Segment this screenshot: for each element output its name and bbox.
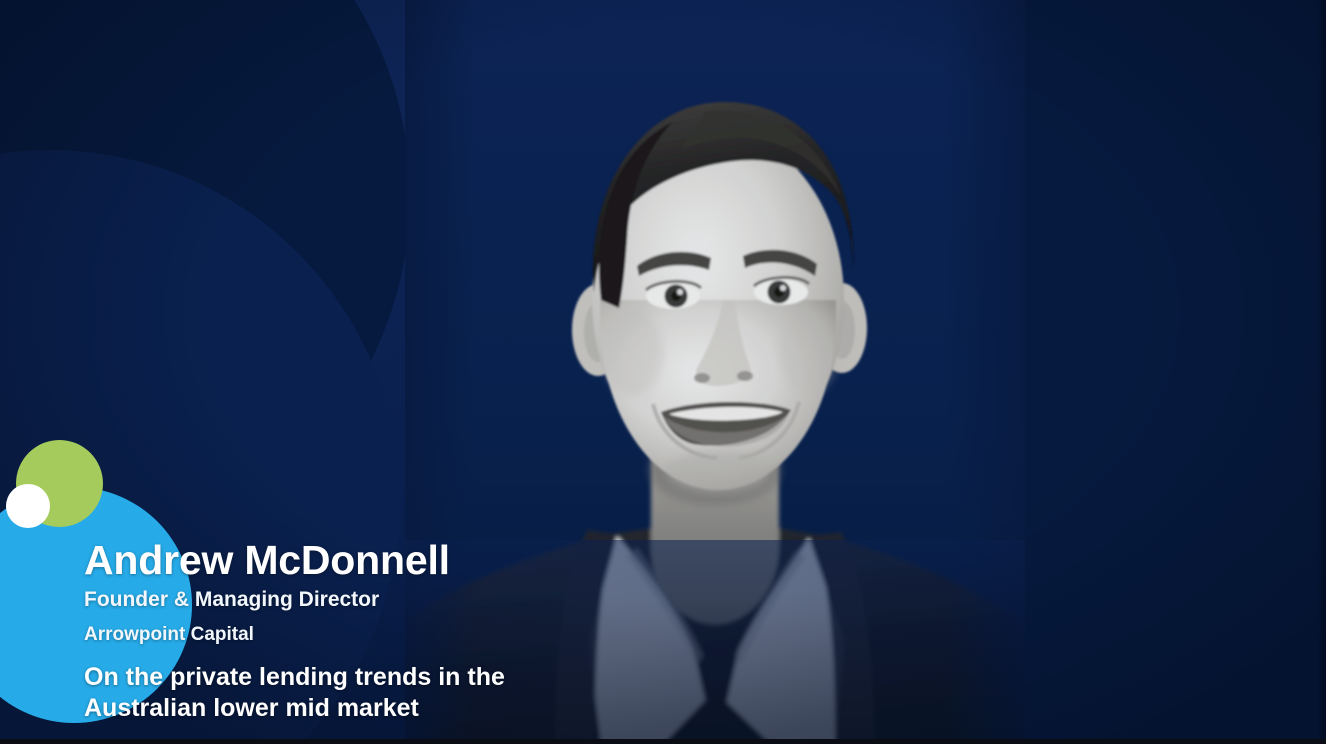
decorative-circle-white — [6, 484, 50, 528]
speaker-topic-line-1: On the private lending trends in the — [84, 662, 574, 693]
speaker-caption: Andrew McDonnell Founder & Managing Dire… — [84, 538, 684, 723]
bottom-edge-bar — [0, 739, 1326, 744]
speaker-slide: Andrew McDonnell Founder & Managing Dire… — [0, 0, 1326, 744]
speaker-topic-line-2: Australian lower mid market — [84, 693, 574, 724]
speaker-company: Arrowpoint Capital — [84, 625, 684, 646]
speaker-topic: On the private lending trends in the Aus… — [84, 662, 574, 723]
right-edge-shadow — [1318, 0, 1326, 744]
speaker-role: Founder & Managing Director — [84, 588, 684, 611]
speaker-name: Andrew McDonnell — [84, 538, 684, 582]
